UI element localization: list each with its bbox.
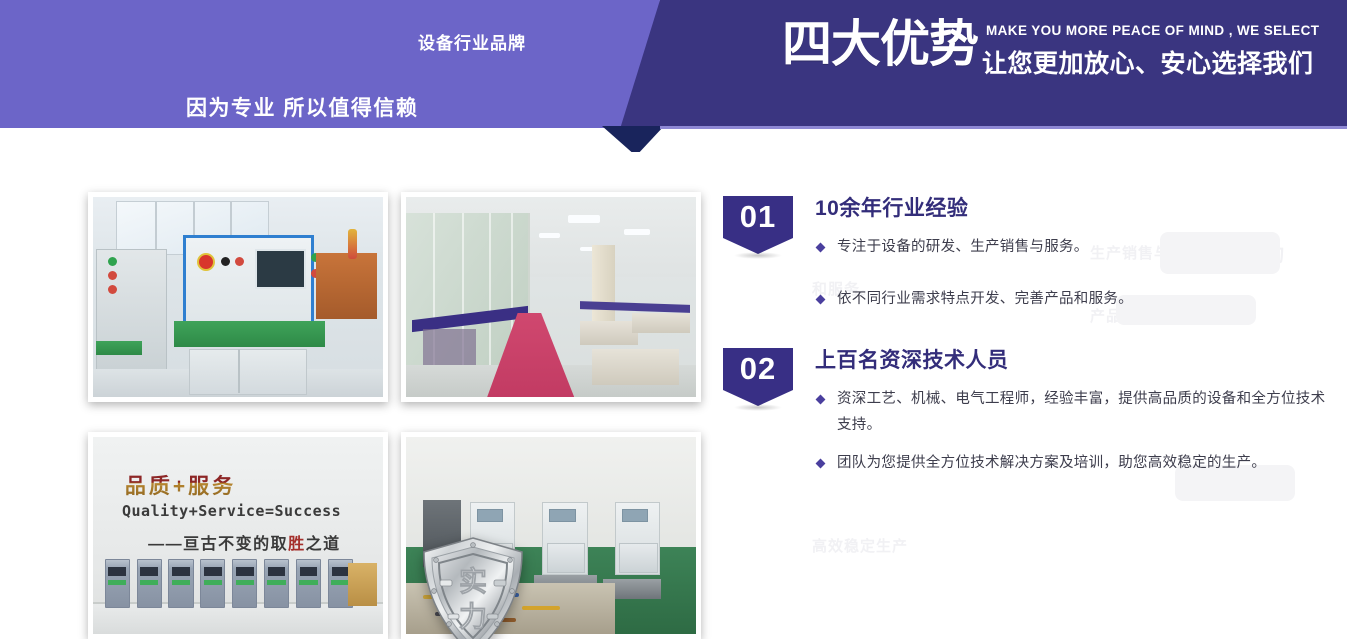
banner-underline [660, 126, 1347, 129]
badge-shadow [734, 404, 782, 411]
feature-title-01: 10余年行业经验 [815, 196, 1333, 222]
header-title-english: MAKE YOU MORE PEACE OF MIND , WE SELECT [986, 23, 1319, 38]
strength-shield-badge: 实 力 [420, 536, 526, 639]
wall-slogan-en: Quality+Service=Success [122, 502, 341, 520]
feature-number-badge-01: 01 [723, 196, 795, 258]
list-item: 团队为您提供全方位技术解决方案及培训，助您高效稳定的生产。 [815, 450, 1333, 476]
feature-bullets-01: 专注于设备的研发、生产销售与服务。 依不同行业需求特点开发、完善产品和服务。 [815, 234, 1333, 312]
badge-shadow [734, 252, 782, 259]
feature-number-01: 01 [740, 196, 776, 238]
page-title: 四大优势 [782, 16, 978, 72]
svg-text:实: 实 [459, 565, 487, 597]
office-corridor-photo [401, 192, 701, 402]
feature-item-01: 01 10余年行业经验 专注于设备的研发、生产销售与服务。 依不同行业需求特点开… [723, 196, 1333, 312]
list-item: 专注于设备的研发、生产销售与服务。 [815, 234, 1333, 260]
list-item: 资深工艺、机械、电气工程师，经验丰富，提供高品质的设备和全方位技术支持。 [815, 386, 1333, 438]
feature-number-02: 02 [740, 348, 776, 390]
feature-number-badge-02: 02 [723, 348, 795, 410]
quality-service-slogan-wall-photo: 品质+服务 Quality+Service=Success ——亘古不变的取胜之… [88, 432, 388, 639]
header-banner: 设备行业品牌 因为专业 所以值得信赖 四大优势 MAKE YOU MORE PE… [0, 0, 1347, 152]
svg-text:力: 力 [459, 601, 487, 632]
photo-collage: 品质+服务 Quality+Service=Success ——亘古不变的取胜之… [88, 192, 703, 639]
advantages-page: 设备行业品牌 因为专业 所以值得信赖 四大优势 MAKE YOU MORE PE… [0, 0, 1347, 639]
ghost-text-5: 高效稳定生产 [812, 535, 908, 556]
feature-title-02: 上百名资深技术人员 [815, 348, 1333, 374]
banner-notch-triangle [602, 126, 664, 152]
wall-slogan-cn: 品质+服务 [125, 470, 236, 500]
feature-item-02: 02 上百名资深技术人员 资深工艺、机械、电气工程师，经验丰富，提供高品质的设备… [723, 348, 1333, 476]
wall-slogan-sub: ——亘古不变的取胜之道 [148, 530, 341, 554]
header-title-chinese-sub: 让您更加放心、安心选择我们 [982, 44, 1314, 80]
equipment-production-line-photo [88, 192, 388, 402]
list-item: 依不同行业需求特点开发、完善产品和服务。 [815, 286, 1333, 312]
header-subtitle-top: 设备行业品牌 [418, 29, 526, 54]
feature-bullets-02: 资深工艺、机械、电气工程师，经验丰富，提供高品质的设备和全方位技术支持。 团队为… [815, 386, 1333, 476]
header-subtitle-bottom: 因为专业 所以值得信赖 [186, 92, 418, 122]
features-list: 01 10余年行业经验 专注于设备的研发、生产销售与服务。 依不同行业需求特点开… [723, 192, 1333, 512]
